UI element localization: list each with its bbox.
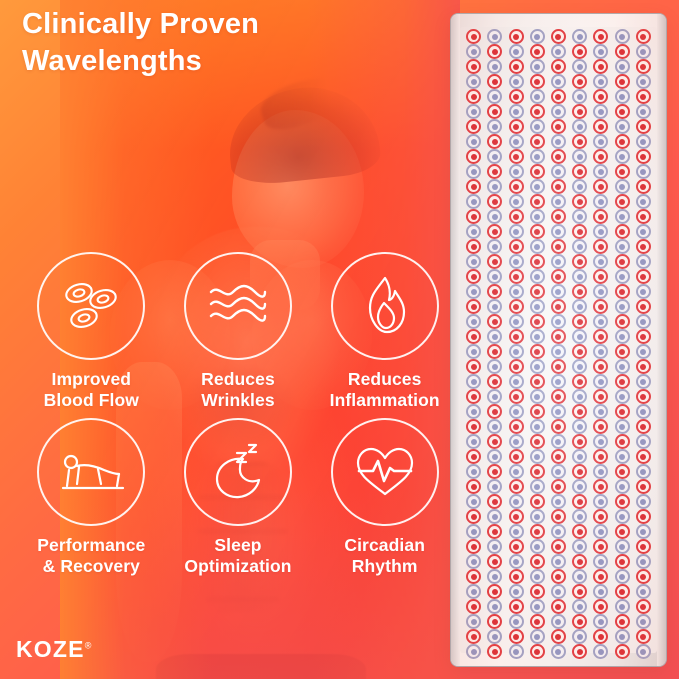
- led-diode: [487, 389, 502, 404]
- led-diode: [636, 194, 651, 209]
- led-diode: [615, 614, 630, 629]
- led-diode: [636, 119, 651, 134]
- led-diode: [572, 614, 587, 629]
- benefit-sleep-optimization: Sleep Optimization: [165, 418, 312, 578]
- headline-line-1: Clinically Proven: [22, 8, 259, 40]
- led-diode: [530, 644, 545, 659]
- led-diode: [530, 329, 545, 344]
- led-diode: [530, 254, 545, 269]
- led-diode: [636, 419, 651, 434]
- led-diode: [509, 449, 524, 464]
- led-diode: [593, 569, 608, 584]
- led-diode: [530, 269, 545, 284]
- led-diode: [593, 89, 608, 104]
- led-diode: [509, 569, 524, 584]
- led-diode: [593, 29, 608, 44]
- led-diode: [530, 224, 545, 239]
- led-diode: [487, 29, 502, 44]
- benefit-circadian-rhythm: Circadian Rhythm: [311, 418, 458, 578]
- led-diode: [636, 239, 651, 254]
- led-diode: [487, 539, 502, 554]
- led-diode: [572, 629, 587, 644]
- led-diode: [593, 539, 608, 554]
- panel-edge-left: [451, 14, 460, 666]
- led-diode: [530, 44, 545, 59]
- led-diode: [509, 329, 524, 344]
- led-diode: [530, 359, 545, 374]
- benefit-label: Performance & Recovery: [18, 535, 165, 578]
- led-diode: [636, 299, 651, 314]
- led-diode: [509, 104, 524, 119]
- brand-trademark: ®: [85, 640, 92, 650]
- led-diode: [509, 194, 524, 209]
- led-diode: [551, 644, 566, 659]
- led-diode: [572, 59, 587, 74]
- benefits-grid: Improved Blood Flow Reduces Wrinkles: [18, 252, 458, 577]
- led-diode: [615, 164, 630, 179]
- led-diode: [466, 104, 481, 119]
- led-diode: [572, 524, 587, 539]
- led-diode: [572, 569, 587, 584]
- led-diode: [466, 584, 481, 599]
- led-diode: [636, 629, 651, 644]
- led-diode: [615, 239, 630, 254]
- led-diode: [466, 119, 481, 134]
- panel-led-face: [460, 27, 657, 653]
- led-diode: [572, 314, 587, 329]
- led-diode: [509, 374, 524, 389]
- led-diode: [551, 44, 566, 59]
- led-diode: [530, 74, 545, 89]
- led-diode: [572, 599, 587, 614]
- led-diode: [487, 554, 502, 569]
- led-diode: [551, 179, 566, 194]
- led-diode: [615, 644, 630, 659]
- led-diode: [487, 299, 502, 314]
- led-diode: [636, 539, 651, 554]
- led-diode: [551, 104, 566, 119]
- led-diode: [615, 89, 630, 104]
- led-diode: [487, 404, 502, 419]
- led-diode: [615, 194, 630, 209]
- led-diode: [466, 509, 481, 524]
- led-diode: [572, 164, 587, 179]
- led-diode: [593, 314, 608, 329]
- led-diode: [615, 269, 630, 284]
- led-diode: [509, 314, 524, 329]
- led-diode: [487, 239, 502, 254]
- led-diode: [615, 119, 630, 134]
- led-diode: [636, 524, 651, 539]
- led-diode: [593, 509, 608, 524]
- led-diode: [572, 149, 587, 164]
- led-diode: [615, 389, 630, 404]
- led-diode: [530, 194, 545, 209]
- led-diode: [530, 419, 545, 434]
- led-diode: [593, 419, 608, 434]
- led-diode: [593, 134, 608, 149]
- led-diode: [615, 299, 630, 314]
- led-diode: [551, 389, 566, 404]
- led-diode: [593, 254, 608, 269]
- led-diode: [636, 284, 651, 299]
- led-diode: [509, 494, 524, 509]
- led-diode: [466, 44, 481, 59]
- led-diode: [615, 374, 630, 389]
- flame-icon: [360, 275, 410, 337]
- led-diode: [551, 284, 566, 299]
- led-diode: [572, 404, 587, 419]
- led-diode: [530, 164, 545, 179]
- led-diode: [636, 104, 651, 119]
- led-diode: [593, 119, 608, 134]
- led-diode: [551, 614, 566, 629]
- benefit-label: Circadian Rhythm: [311, 535, 458, 578]
- led-diode: [509, 644, 524, 659]
- led-diode: [615, 59, 630, 74]
- led-diode: [509, 134, 524, 149]
- led-diode: [509, 179, 524, 194]
- led-diode: [572, 374, 587, 389]
- led-diode: [551, 554, 566, 569]
- led-diode: [487, 464, 502, 479]
- led-diode: [530, 524, 545, 539]
- led-diode: [530, 299, 545, 314]
- led-diode: [636, 389, 651, 404]
- led-diode: [466, 419, 481, 434]
- led-diode: [466, 269, 481, 284]
- led-diode: [509, 284, 524, 299]
- led-diode: [593, 299, 608, 314]
- led-diode: [551, 434, 566, 449]
- led-diode: [551, 29, 566, 44]
- led-diode: [593, 389, 608, 404]
- led-diode: [551, 209, 566, 224]
- led-diode: [636, 554, 651, 569]
- led-diode: [615, 509, 630, 524]
- led-diode: [530, 434, 545, 449]
- led-diode: [615, 344, 630, 359]
- led-diode: [466, 194, 481, 209]
- led-diode: [572, 134, 587, 149]
- led-diode: [636, 404, 651, 419]
- led-diode: [572, 464, 587, 479]
- led-diode: [530, 614, 545, 629]
- led-diode: [487, 209, 502, 224]
- led-diode: [466, 254, 481, 269]
- led-diode: [530, 494, 545, 509]
- led-diode: [551, 239, 566, 254]
- led-diode: [615, 599, 630, 614]
- led-diode: [551, 89, 566, 104]
- led-diode: [530, 134, 545, 149]
- led-diode: [487, 329, 502, 344]
- led-diode: [593, 494, 608, 509]
- led-diode: [593, 434, 608, 449]
- led-diode: [487, 164, 502, 179]
- led-diode: [551, 299, 566, 314]
- led-diode: [530, 89, 545, 104]
- led-diode: [572, 74, 587, 89]
- led-diode: [551, 344, 566, 359]
- led-diode: [487, 269, 502, 284]
- led-diode: [487, 344, 502, 359]
- led-diode: [530, 629, 545, 644]
- led-diode: [487, 569, 502, 584]
- led-diode: [551, 584, 566, 599]
- benefit-label: Reduces Wrinkles: [165, 369, 312, 412]
- led-diode: [487, 584, 502, 599]
- led-diode: [509, 29, 524, 44]
- headline-line-2: Wavelengths: [22, 45, 202, 77]
- led-diode: [509, 149, 524, 164]
- led-diode: [551, 74, 566, 89]
- blood-cells-icon: [59, 277, 123, 335]
- led-diode: [487, 509, 502, 524]
- led-diode: [593, 224, 608, 239]
- led-diode: [466, 284, 481, 299]
- led-diode: [530, 509, 545, 524]
- led-diode: [466, 554, 481, 569]
- panel-edge-right: [657, 14, 666, 666]
- led-diode: [551, 419, 566, 434]
- led-diode: [572, 44, 587, 59]
- led-diode: [487, 359, 502, 374]
- led-diode: [615, 629, 630, 644]
- led-diode: [466, 89, 481, 104]
- led-diode: [509, 524, 524, 539]
- led-diode: [572, 299, 587, 314]
- led-diode: [615, 359, 630, 374]
- led-diode: [636, 464, 651, 479]
- led-diode: [466, 359, 481, 374]
- led-diode: [572, 119, 587, 134]
- benefit-improved-blood-flow: Improved Blood Flow: [18, 252, 165, 412]
- led-diode: [615, 419, 630, 434]
- led-diode: [551, 404, 566, 419]
- led-diode: [487, 449, 502, 464]
- led-diode: [572, 539, 587, 554]
- led-diode: [636, 344, 651, 359]
- led-diode: [551, 479, 566, 494]
- led-diode: [487, 119, 502, 134]
- led-diode: [551, 119, 566, 134]
- led-diode: [530, 344, 545, 359]
- led-diode: [509, 539, 524, 554]
- led-diode: [466, 74, 481, 89]
- led-diode: [530, 314, 545, 329]
- led-diode: [615, 449, 630, 464]
- led-diode: [466, 404, 481, 419]
- led-diode: [572, 434, 587, 449]
- led-diode: [487, 194, 502, 209]
- led-diode: [615, 434, 630, 449]
- led-diode: [615, 149, 630, 164]
- led-diode: [551, 599, 566, 614]
- led-diode: [509, 599, 524, 614]
- led-diode: [615, 494, 630, 509]
- led-diode: [509, 74, 524, 89]
- led-diode: [487, 599, 502, 614]
- led-diode: [509, 584, 524, 599]
- led-diode: [530, 539, 545, 554]
- led-diode: [572, 389, 587, 404]
- led-diode: [487, 104, 502, 119]
- led-diode: [593, 74, 608, 89]
- led-diode: [551, 254, 566, 269]
- led-diode: [466, 629, 481, 644]
- led-diode: [466, 344, 481, 359]
- led-diode: [636, 614, 651, 629]
- led-diode: [593, 584, 608, 599]
- led-diode: [487, 89, 502, 104]
- led-diode: [636, 164, 651, 179]
- led-diode: [572, 194, 587, 209]
- led-diode: [509, 89, 524, 104]
- led-diode: [509, 404, 524, 419]
- led-diode: [572, 584, 587, 599]
- led-diode: [636, 434, 651, 449]
- led-diode: [615, 254, 630, 269]
- led-diode: [593, 644, 608, 659]
- led-diode: [487, 614, 502, 629]
- benefit-icon-circle: [37, 252, 145, 360]
- led-diode: [466, 149, 481, 164]
- led-diode: [551, 269, 566, 284]
- led-diode: [572, 284, 587, 299]
- led-diode: [466, 539, 481, 554]
- led-diode: [530, 554, 545, 569]
- led-diode: [615, 329, 630, 344]
- led-diode: [615, 179, 630, 194]
- led-diode: [530, 389, 545, 404]
- led-diode: [593, 239, 608, 254]
- benefit-label: Sleep Optimization: [165, 535, 312, 578]
- led-diode: [466, 479, 481, 494]
- led-diode: [615, 134, 630, 149]
- led-diode: [466, 134, 481, 149]
- led-diode: [593, 359, 608, 374]
- led-diode: [487, 434, 502, 449]
- led-diode: [572, 224, 587, 239]
- led-diode: [551, 224, 566, 239]
- led-diode: [572, 179, 587, 194]
- led-diode: [466, 59, 481, 74]
- led-diode: [487, 59, 502, 74]
- led-diode: [593, 179, 608, 194]
- led-diode: [572, 494, 587, 509]
- led-diode: [593, 449, 608, 464]
- led-diode: [509, 164, 524, 179]
- led-diode: [615, 209, 630, 224]
- led-diode: [636, 314, 651, 329]
- led-diode: [551, 134, 566, 149]
- led-diode: [636, 44, 651, 59]
- led-diode: [593, 269, 608, 284]
- led-diode: [487, 374, 502, 389]
- led-diode: [615, 29, 630, 44]
- push-up-person-icon: [57, 448, 125, 496]
- benefit-icon-circle: [184, 418, 292, 526]
- led-diode: [572, 104, 587, 119]
- led-diode: [636, 449, 651, 464]
- led-diode: [636, 149, 651, 164]
- led-diode: [572, 644, 587, 659]
- led-diode: [466, 239, 481, 254]
- led-diode: [487, 44, 502, 59]
- led-diode: [466, 599, 481, 614]
- led-diode: [615, 584, 630, 599]
- led-diode: [509, 629, 524, 644]
- led-diode: [509, 434, 524, 449]
- led-diode: [615, 524, 630, 539]
- led-diode: [530, 404, 545, 419]
- led-diode: [509, 464, 524, 479]
- led-diode: [466, 314, 481, 329]
- led-diode: [615, 104, 630, 119]
- led-diode: [636, 89, 651, 104]
- led-diode: [530, 479, 545, 494]
- led-diode: [487, 224, 502, 239]
- led-diode: [593, 194, 608, 209]
- led-diode: [551, 524, 566, 539]
- led-diode: [551, 329, 566, 344]
- led-diode: [509, 479, 524, 494]
- led-diode: [466, 644, 481, 659]
- led-diode: [509, 554, 524, 569]
- led-diode: [509, 44, 524, 59]
- led-diode: [551, 464, 566, 479]
- led-diode: [636, 74, 651, 89]
- wrinkle-waves-icon: [206, 282, 270, 330]
- led-diode: [615, 479, 630, 494]
- led-diode: [593, 524, 608, 539]
- led-diode: [593, 59, 608, 74]
- led-diode: [466, 164, 481, 179]
- led-diode: [593, 164, 608, 179]
- led-diode: [636, 269, 651, 284]
- led-diode: [572, 509, 587, 524]
- led-diode: [636, 644, 651, 659]
- led-diode: [530, 374, 545, 389]
- led-diode: [530, 584, 545, 599]
- led-diode: [487, 524, 502, 539]
- led-diode: [466, 389, 481, 404]
- led-diode: [593, 209, 608, 224]
- led-grid: [463, 29, 654, 651]
- led-diode: [530, 464, 545, 479]
- led-diode: [572, 269, 587, 284]
- led-diode: [530, 179, 545, 194]
- led-diode: [593, 149, 608, 164]
- led-diode: [615, 569, 630, 584]
- led-diode: [466, 464, 481, 479]
- led-diode: [636, 209, 651, 224]
- led-diode: [530, 239, 545, 254]
- led-diode: [551, 374, 566, 389]
- headline: Clinically ProvenWavelengths: [22, 6, 452, 80]
- led-diode: [551, 194, 566, 209]
- led-diode: [615, 284, 630, 299]
- led-diode: [551, 359, 566, 374]
- led-diode: [466, 449, 481, 464]
- led-diode: [615, 44, 630, 59]
- product-infographic: Clinically ProvenWavelengths Improved Bl…: [0, 0, 679, 679]
- led-diode: [487, 149, 502, 164]
- led-diode: [636, 509, 651, 524]
- led-diode: [615, 74, 630, 89]
- led-diode: [551, 164, 566, 179]
